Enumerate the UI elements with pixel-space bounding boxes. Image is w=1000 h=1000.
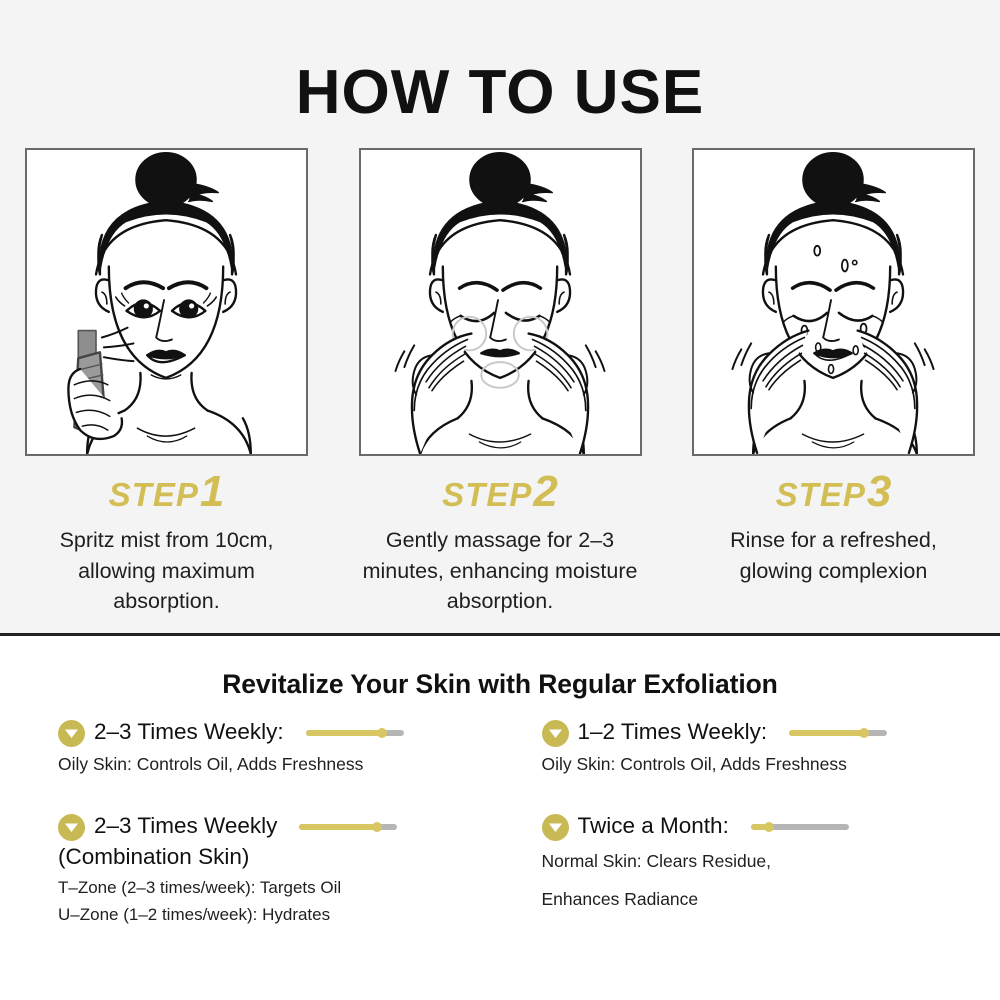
frequency-column-left: 2–3 Times Weekly: Oily Skin: Controls Oi…: [58, 719, 502, 926]
woman-massaging-face-icon: [361, 150, 640, 454]
how-to-use-section: HOW TO USE: [0, 0, 1000, 636]
slider-fill: [789, 730, 863, 736]
section-heading: Revitalize Your Skin with Regular Exfoli…: [0, 669, 1000, 700]
chevron-down-icon: [542, 720, 569, 747]
frequency-item-4: Twice a Month: Normal Skin: Clears Resid…: [542, 813, 946, 915]
chevron-down-icon: [58, 814, 85, 841]
illustration-frame-1: [25, 148, 308, 456]
frequency-item-2-title: 1–2 Times Weekly:: [578, 719, 768, 746]
frequency-item-1: 2–3 Times Weekly: Oily Skin: Controls Oi…: [58, 719, 502, 777]
frequency-item-3: 2–3 Times Weekly (Combination Skin) T–Zo…: [58, 813, 502, 926]
step-card-2: STEP2 Gently massage for 2–3 minutes, en…: [359, 148, 642, 617]
slider-fill: [306, 730, 382, 736]
steps-row: STEP1 Spritz mist from 10cm, allowing ma…: [0, 148, 1000, 617]
woman-rinsing-face-icon: [694, 150, 973, 454]
step-word-1: STEP: [109, 476, 199, 513]
frequency-item-2-subtitle: Oily Skin: Controls Oil, Adds Freshness: [542, 751, 946, 777]
frequency-item-2-head: 1–2 Times Weekly:: [542, 719, 946, 746]
illustration-frame-2: [359, 148, 642, 456]
woman-spraying-mist-icon: [27, 150, 306, 454]
frequency-item-3-title: 2–3 Times Weekly: [94, 813, 277, 840]
step-label-2: STEP2: [359, 470, 642, 514]
page-title: HOW TO USE: [0, 62, 1000, 124]
frequency-item-1-head: 2–3 Times Weekly:: [58, 719, 502, 746]
slider-knob[interactable]: [372, 822, 382, 832]
step-label-3: STEP3: [692, 470, 975, 514]
step-number-2: 2: [533, 467, 557, 516]
frequency-item-4-slider[interactable]: [751, 824, 849, 830]
exfoliation-frequency-section: Revitalize Your Skin with Regular Exfoli…: [0, 639, 1000, 1000]
slider-knob[interactable]: [859, 728, 869, 738]
step-word-3: STEP: [776, 476, 866, 513]
frequency-item-3-subtitle: T–Zone (2–3 times/week): Targets Oil: [58, 877, 502, 899]
frequency-item-4-subtitle-line2: Enhances Radiance: [542, 883, 946, 915]
chevron-down-icon: [542, 814, 569, 841]
step-description-3: Rinse for a refreshed, glowing complexio…: [692, 525, 975, 586]
frequency-item-1-title: 2–3 Times Weekly:: [94, 719, 284, 746]
frequency-item-3-subtitle-line2: U–Zone (1–2 times/week): Hydrates: [58, 904, 502, 926]
frequency-item-4-subtitle: Normal Skin: Clears Residue,: [542, 845, 946, 877]
frequency-item-1-subtitle: Oily Skin: Controls Oil, Adds Freshness: [58, 751, 502, 777]
infographic-page: HOW TO USE: [0, 0, 1000, 1000]
step-label-1: STEP1: [25, 470, 308, 514]
frequency-item-2-slider[interactable]: [789, 730, 887, 736]
step-number-3: 3: [867, 467, 891, 516]
slider-knob[interactable]: [377, 728, 387, 738]
frequency-item-1-slider[interactable]: [306, 730, 404, 736]
step-number-1: 1: [200, 467, 224, 516]
frequency-column-right: 1–2 Times Weekly: Oily Skin: Controls Oi…: [502, 719, 946, 926]
frequency-item-3-head: 2–3 Times Weekly: [58, 813, 502, 840]
slider-fill: [299, 824, 376, 830]
frequency-item-3-slider[interactable]: [299, 824, 397, 830]
illustration-frame-3: [692, 148, 975, 456]
chevron-down-icon: [58, 720, 85, 747]
frequency-item-3-title-line2: (Combination Skin): [58, 842, 502, 871]
slider-knob[interactable]: [764, 822, 774, 832]
frequency-grid: 2–3 Times Weekly: Oily Skin: Controls Oi…: [0, 719, 1000, 926]
step-card-1: STEP1 Spritz mist from 10cm, allowing ma…: [25, 148, 308, 617]
frequency-item-2: 1–2 Times Weekly: Oily Skin: Controls Oi…: [542, 719, 946, 777]
step-card-3: STEP3 Rinse for a refreshed, glowing com…: [692, 148, 975, 617]
step-description-2: Gently massage for 2–3 minutes, enhancin…: [359, 525, 642, 617]
frequency-item-4-title: Twice a Month:: [578, 813, 729, 840]
step-word-2: STEP: [442, 476, 532, 513]
step-description-1: Spritz mist from 10cm, allowing maximum …: [25, 525, 308, 617]
frequency-item-4-head: Twice a Month:: [542, 813, 946, 840]
